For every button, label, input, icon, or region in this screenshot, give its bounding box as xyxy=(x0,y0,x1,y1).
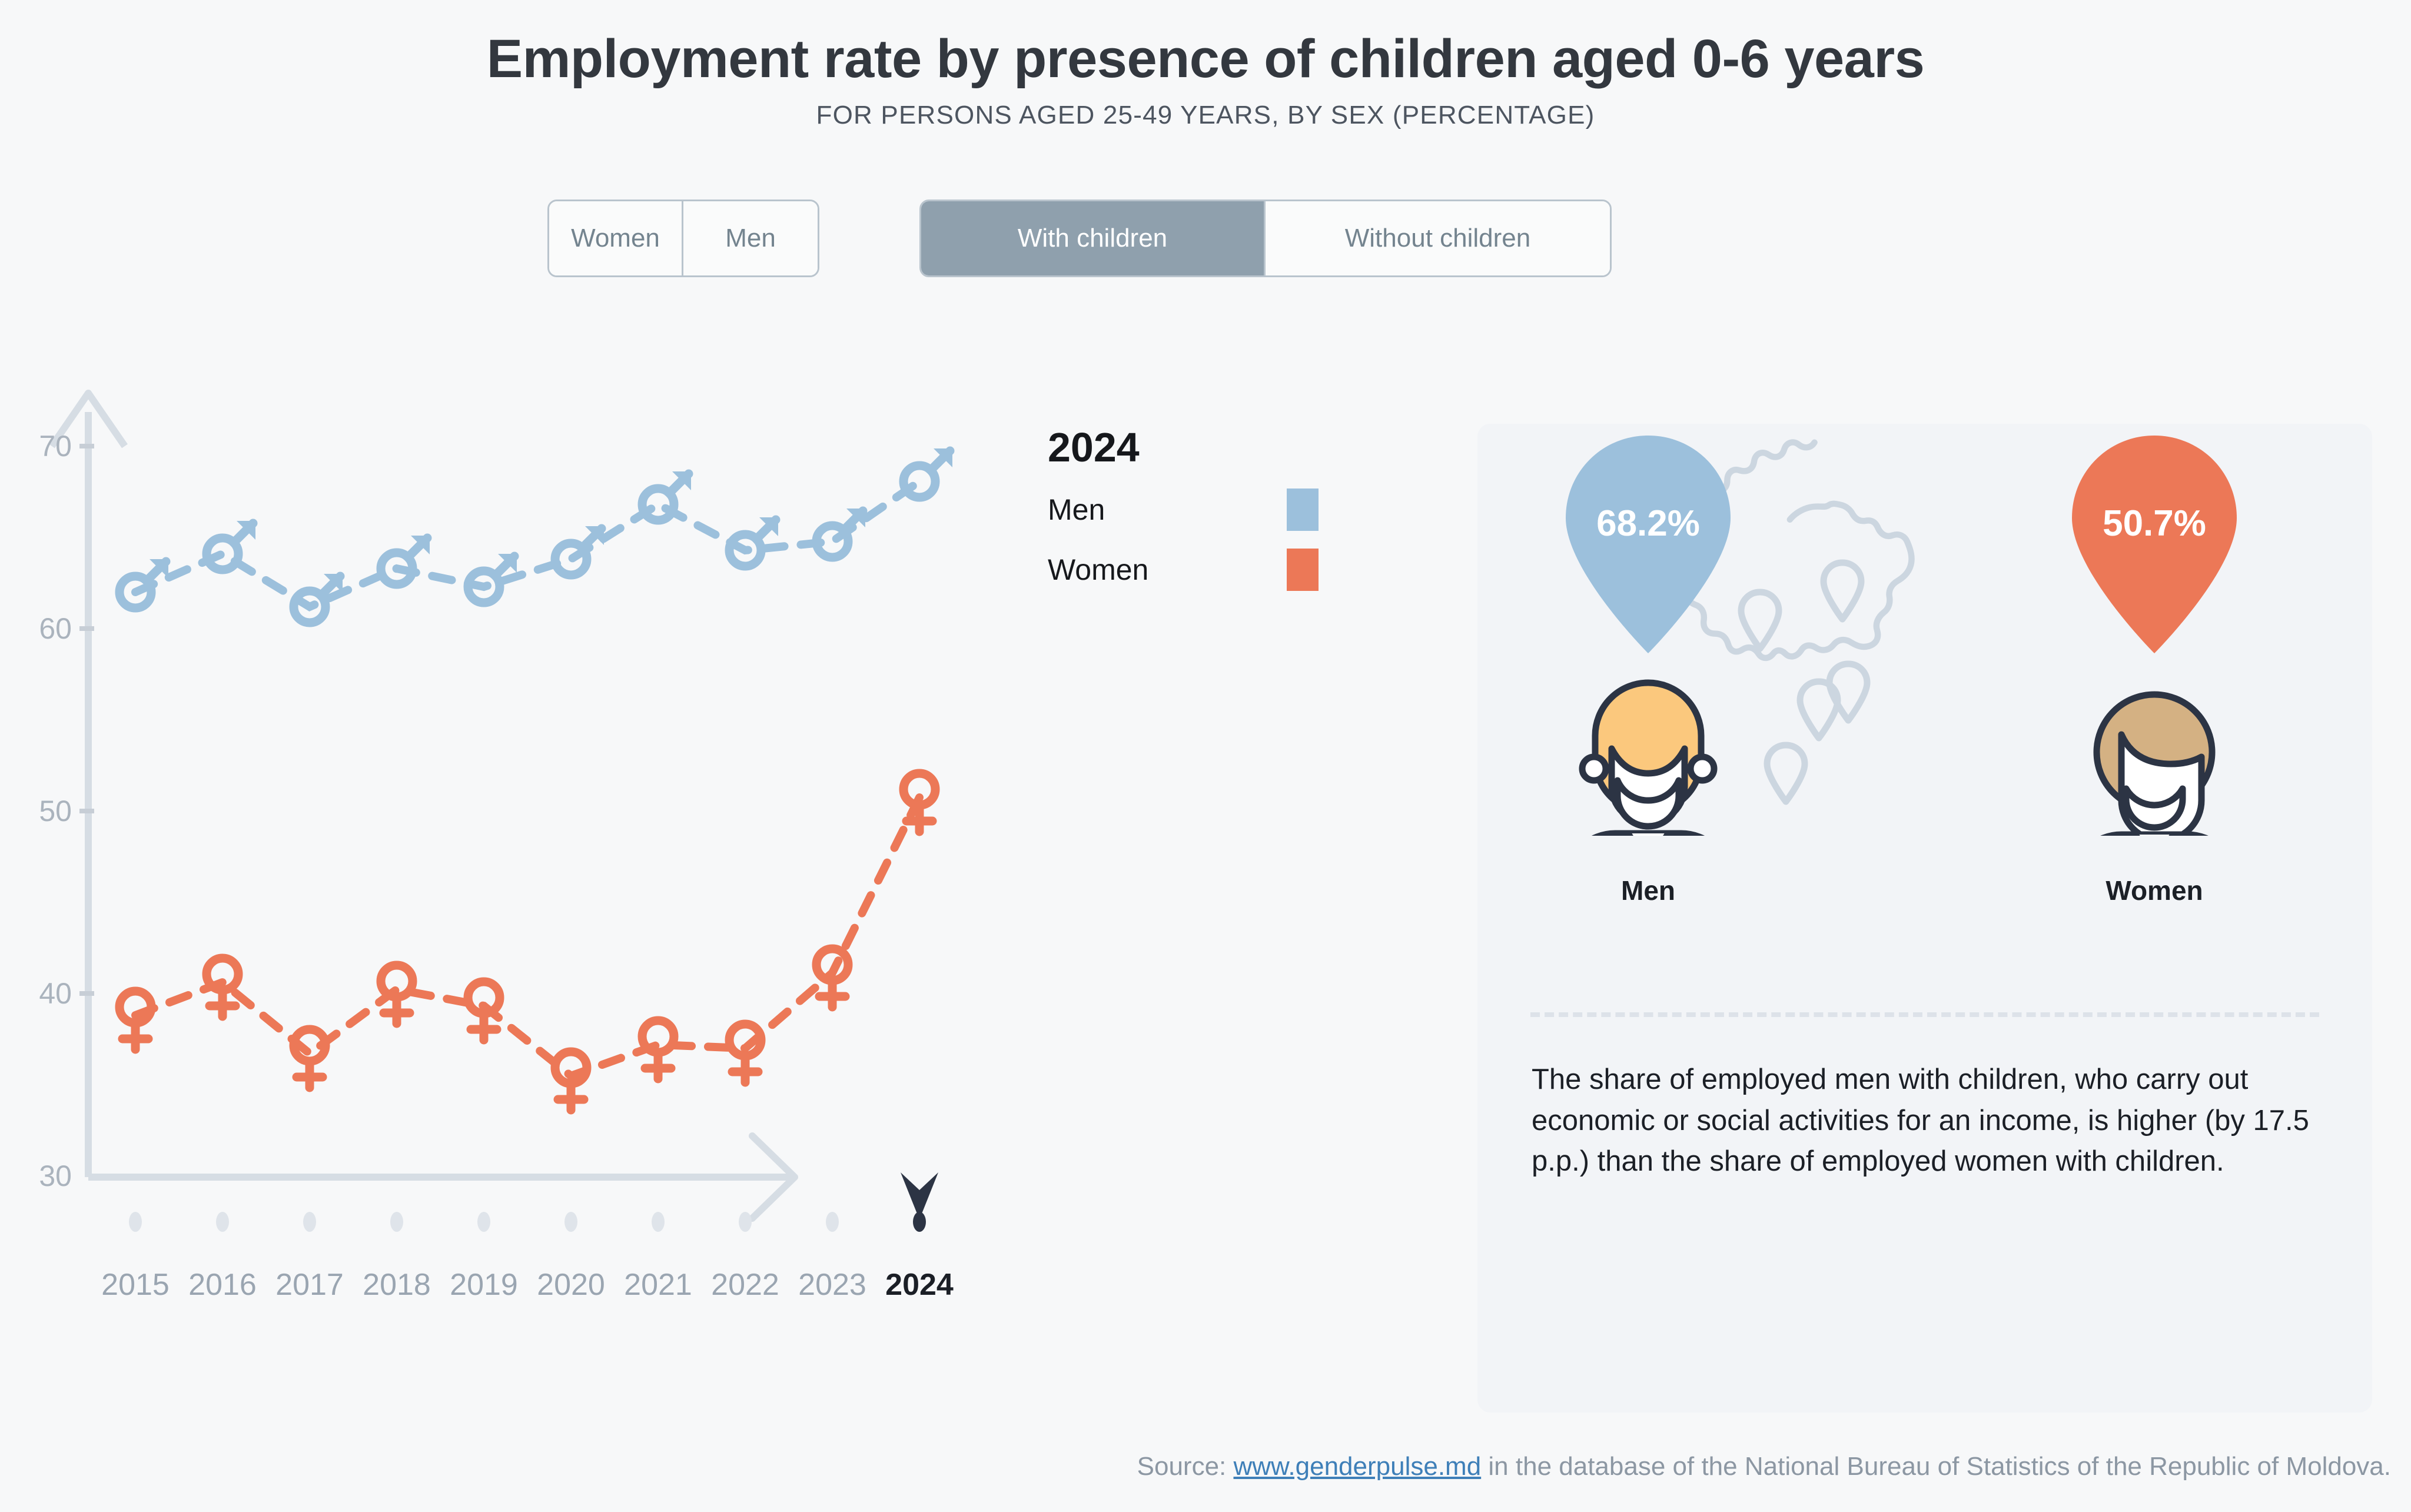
women-pin: 50.7% xyxy=(2072,436,2237,653)
svg-text:70: 70 xyxy=(39,430,72,463)
women-pin-value: 50.7% xyxy=(2103,503,2206,544)
woman-with-baby-icon xyxy=(2072,694,2247,836)
man-with-baby-icon xyxy=(1566,683,1741,836)
legend-swatch-women xyxy=(1287,549,1319,591)
svg-text:30: 30 xyxy=(39,1159,72,1192)
x-label-2015: 2015 xyxy=(101,1268,170,1302)
figures-illustration: 68.2% 50.7% xyxy=(1477,424,2372,836)
legend-swatch-men xyxy=(1287,489,1319,531)
sex-toggle-group: Women Men xyxy=(547,200,819,277)
legend-item-women[interactable]: Women xyxy=(1048,549,1319,591)
men-series-path xyxy=(135,481,919,607)
legend-label-women: Women xyxy=(1048,553,1148,587)
women-series-path xyxy=(135,797,919,1076)
svg-text:50: 50 xyxy=(39,795,72,828)
toggle-with-children[interactable]: With children xyxy=(921,201,1266,275)
toggle-women[interactable]: Women xyxy=(549,201,683,275)
source-footer: Source: www.genderpulse.md in the databa… xyxy=(0,1452,2411,1481)
women-figure-label: Women xyxy=(2031,875,2278,906)
x-axis-dots xyxy=(129,1212,926,1232)
x-label-2019: 2019 xyxy=(450,1268,518,1302)
selected-year-chevron xyxy=(901,1172,938,1219)
x-axis-labels: 2015 2016 2017 2018 2019 2020 2021 2022 … xyxy=(101,1268,954,1302)
legend-year: 2024 xyxy=(1048,424,1319,471)
page-header: Employment rate by presence of children … xyxy=(0,0,2411,130)
x-label-2018: 2018 xyxy=(363,1268,431,1302)
x-label-2017: 2017 xyxy=(275,1268,344,1302)
toggle-bar: Women Men With children Without children xyxy=(0,200,2411,277)
main-content: 70 60 50 40 30 xyxy=(0,377,2411,1436)
card-description: The share of employed men with children,… xyxy=(1532,1059,2332,1182)
summary-card: 68.2% 50.7% xyxy=(1477,424,2372,1413)
x-label-2021: 2021 xyxy=(624,1268,692,1302)
svg-text:60: 60 xyxy=(39,612,72,645)
men-figure-label: Men xyxy=(1525,875,1772,906)
page-subtitle: FOR PERSONS AGED 25-49 YEARS, BY SEX (PE… xyxy=(0,101,2411,130)
men-series-markers xyxy=(119,448,952,623)
card-divider xyxy=(1530,1012,2319,1017)
x-label-2024: 2024 xyxy=(885,1268,954,1302)
source-prefix: Source: xyxy=(1137,1452,1234,1481)
children-toggle-group: With children Without children xyxy=(919,200,1612,277)
legend-item-men[interactable]: Men xyxy=(1048,489,1319,531)
svg-text:40: 40 xyxy=(39,977,72,1010)
men-figure-caption: Men xyxy=(1525,859,1772,906)
x-label-2016: 2016 xyxy=(188,1268,257,1302)
source-link[interactable]: www.genderpulse.md xyxy=(1234,1452,1482,1481)
toggle-without-children[interactable]: Without children xyxy=(1266,201,1610,275)
x-label-2020: 2020 xyxy=(537,1268,605,1302)
men-pin-value: 68.2% xyxy=(1596,503,1700,544)
page-title: Employment rate by presence of children … xyxy=(0,31,2411,88)
x-label-2023: 2023 xyxy=(798,1268,866,1302)
women-figure-caption: Women xyxy=(2031,859,2278,906)
line-chart: 70 60 50 40 30 xyxy=(35,377,1436,1413)
x-label-2022: 2022 xyxy=(711,1268,779,1302)
source-suffix: in the database of the National Bureau o… xyxy=(1481,1452,2391,1481)
toggle-men[interactable]: Men xyxy=(683,201,818,275)
women-series-markers xyxy=(119,773,935,1110)
chart-legend: 2024 Men Women xyxy=(1048,424,1319,591)
legend-label-men: Men xyxy=(1048,493,1105,527)
